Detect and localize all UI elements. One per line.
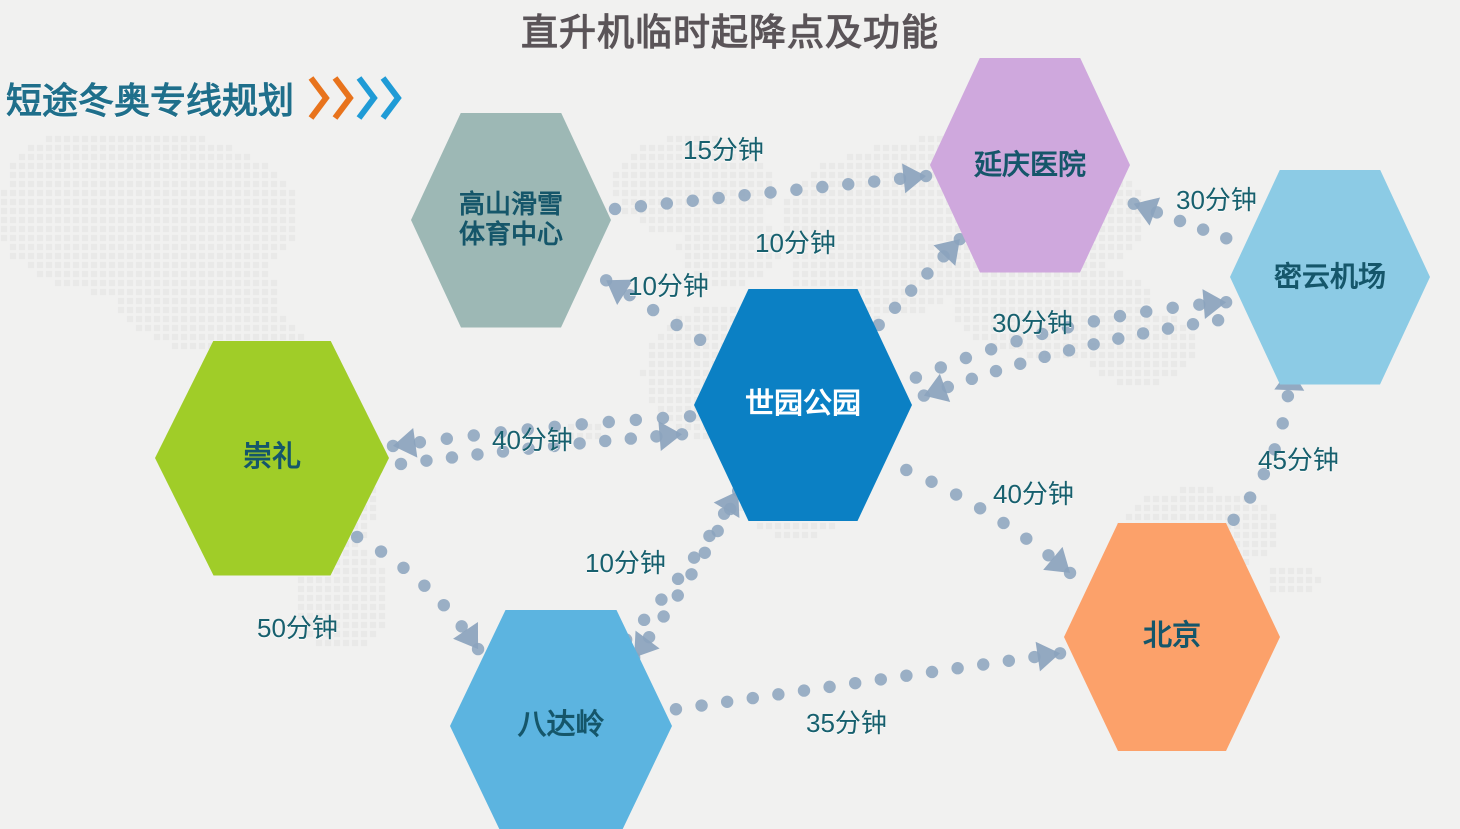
edge-label-gaoshan-yanqing: 15分钟 [683,130,764,167]
arrowhead [1202,289,1226,319]
edge-label-miyun-yanqing: 30分钟 [1176,180,1257,217]
edge-label-beijing-miyun: 45分钟 [1258,440,1339,477]
edge-label-shiyuan-miyun: 30分钟 [992,303,1073,340]
edge-label-shiyuan-beijing: 40分钟 [993,474,1074,511]
node-label: 八达岭 [517,709,604,742]
arrowhead [393,428,417,458]
edge-label-shiyuan-gaoshan: 10分钟 [628,266,709,303]
arrowhead [933,239,959,266]
arrowhead [902,163,926,193]
edge-label-badaling-beijing: 35分钟 [806,703,887,740]
arrowhead [1036,642,1060,672]
node-label: 高山滑雪 体育中心 [459,190,563,250]
edge-label-chongli-badaling: 50分钟 [257,608,338,645]
node-label: 延庆医院 [974,149,1086,181]
node-label: 世园公园 [745,388,861,421]
helicopter-route-diagram: 直升机临时起降点及功能 短途冬奥专线规划 高山滑雪 体育中心延庆医院密云机场世园… [0,0,1460,829]
dotted-connector [609,170,932,215]
arrowhead [658,421,682,451]
edge-label-shiyuan-yanqing: 10分钟 [755,223,836,260]
node-label: 崇礼 [243,441,301,474]
node-label: 密云机场 [1274,261,1386,293]
edge-label-badaling-shiyuan: 10分钟 [585,543,666,580]
node-label: 北京 [1143,620,1201,653]
edge-label-shiyuan-chongli: 40分钟 [492,420,573,457]
